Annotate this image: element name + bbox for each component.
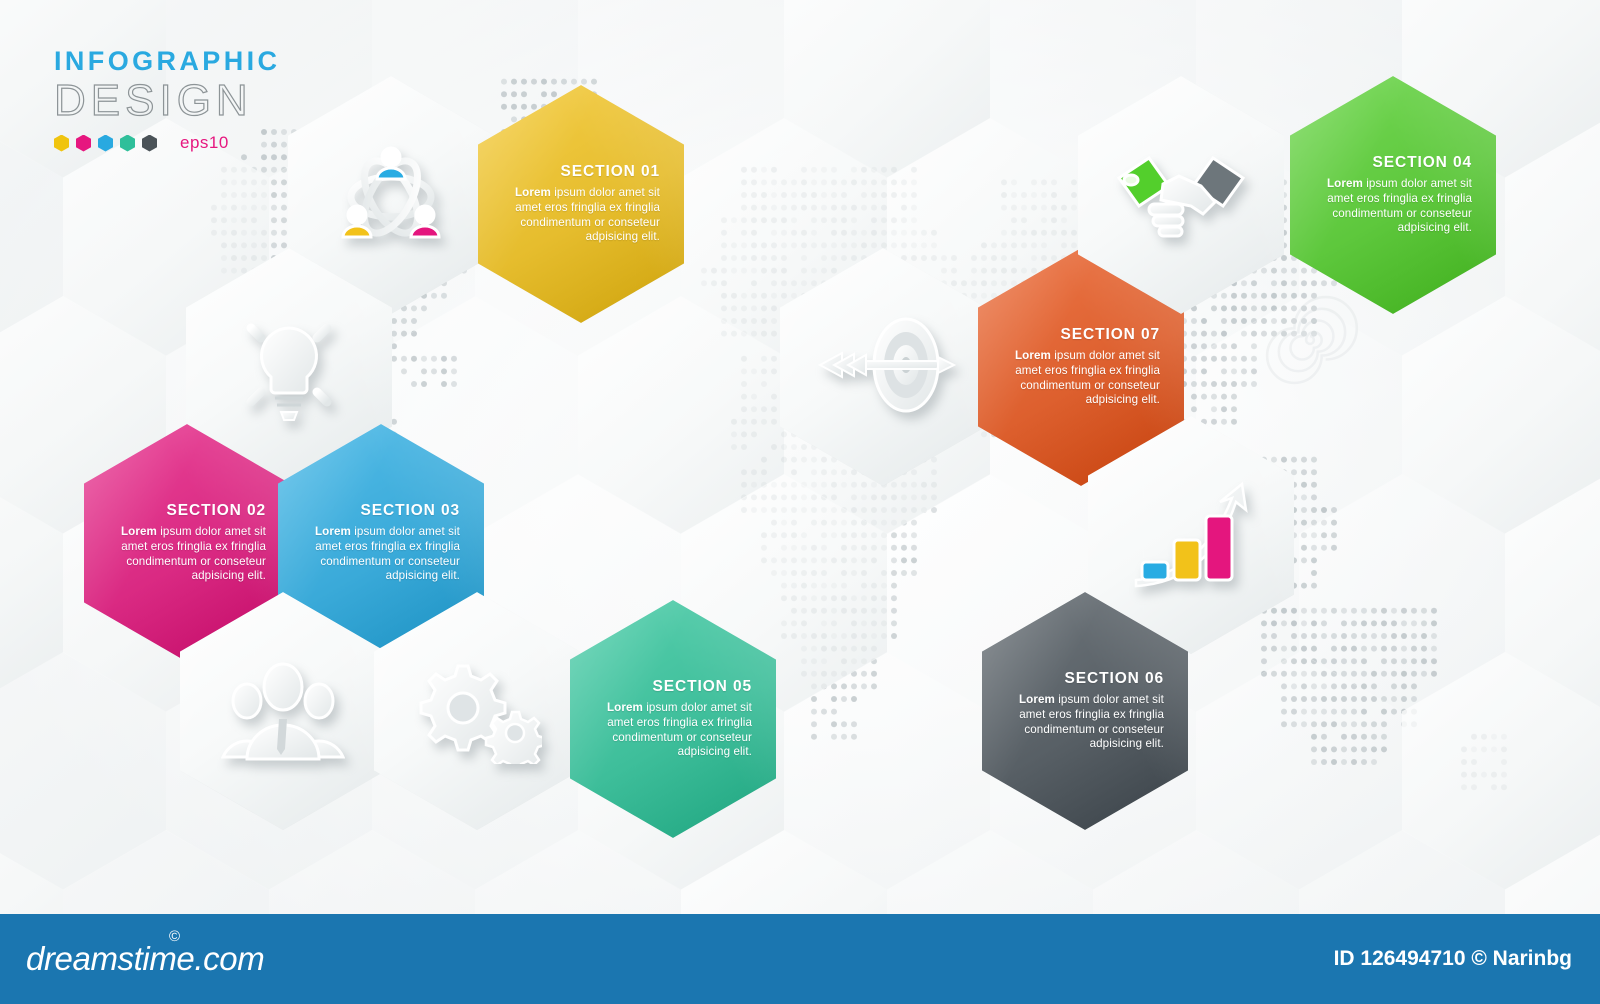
section-title-04: SECTION 04 <box>1314 154 1472 172</box>
section-text-05: SECTION 05 Lorem ipsum dolor amet sit am… <box>594 678 752 759</box>
footer-bar: dreamstime.com © ID 126494710 © Narinbg <box>0 914 1600 1004</box>
section-title-03: SECTION 03 <box>302 502 460 520</box>
section-title-05: SECTION 05 <box>594 678 752 696</box>
section-body-07: Lorem ipsum dolor amet sit amet eros fri… <box>1002 349 1160 407</box>
dreamstime-logo: dreamstime.com © <box>26 940 264 978</box>
atom-people-icon <box>331 137 451 254</box>
gears-icon <box>412 654 542 769</box>
color-dot-magenta <box>76 135 91 152</box>
growth-chart-icon <box>1128 478 1254 593</box>
image-credit: ID 126494710 © Narinbg <box>1334 947 1572 971</box>
registered-mark: © <box>169 928 180 945</box>
section-body-02: Lorem ipsum dolor amet sit amet eros fri… <box>108 525 266 583</box>
section-text-04: SECTION 04 Lorem ipsum dolor amet sit am… <box>1314 154 1472 235</box>
color-dot-yellow <box>54 135 69 152</box>
dreamstime-wordmark: dreamstime.com <box>26 940 264 977</box>
section-body-01: Lorem ipsum dolor amet sit amet eros fri… <box>502 186 660 244</box>
color-dot-dark <box>142 135 157 152</box>
section-title-01: SECTION 01 <box>502 163 660 181</box>
logo-line-design: DESIGN <box>54 77 280 125</box>
logo-color-dots: eps10 <box>54 133 280 153</box>
infographic-canvas: INFOGRAPHIC DESIGN eps10 <box>0 0 1600 1004</box>
logo-eps-label: eps10 <box>180 133 229 153</box>
section-text-01: SECTION 01 Lorem ipsum dolor amet sit am… <box>502 163 660 244</box>
section-body-04: Lorem ipsum dolor amet sit amet eros fri… <box>1314 177 1472 235</box>
section-text-02: SECTION 02 Lorem ipsum dolor amet sit am… <box>108 502 266 583</box>
lightbulb-icon <box>231 306 347 429</box>
color-dot-teal <box>120 135 135 152</box>
section-title-02: SECTION 02 <box>108 502 266 520</box>
section-text-03: SECTION 03 Lorem ipsum dolor amet sit am… <box>302 502 460 583</box>
section-body-06: Lorem ipsum dolor amet sit amet eros fri… <box>1006 693 1164 751</box>
section-title-07: SECTION 07 <box>1002 326 1160 344</box>
section-text-06: SECTION 06 Lorem ipsum dolor amet sit am… <box>1006 670 1164 751</box>
section-body-03: Lorem ipsum dolor amet sit amet eros fri… <box>302 525 460 583</box>
color-dot-blue <box>98 135 113 152</box>
handshake-icon <box>1115 144 1247 247</box>
target-arrow-icon <box>808 313 958 422</box>
team-group-icon <box>221 657 345 766</box>
logo-line-infographic: INFOGRAPHIC <box>54 46 280 77</box>
section-title-06: SECTION 06 <box>1006 670 1164 688</box>
section-text-07: SECTION 07 Lorem ipsum dolor amet sit am… <box>1002 326 1160 407</box>
logo-block: INFOGRAPHIC DESIGN eps10 <box>54 46 280 153</box>
section-body-05: Lorem ipsum dolor amet sit amet eros fri… <box>594 701 752 759</box>
